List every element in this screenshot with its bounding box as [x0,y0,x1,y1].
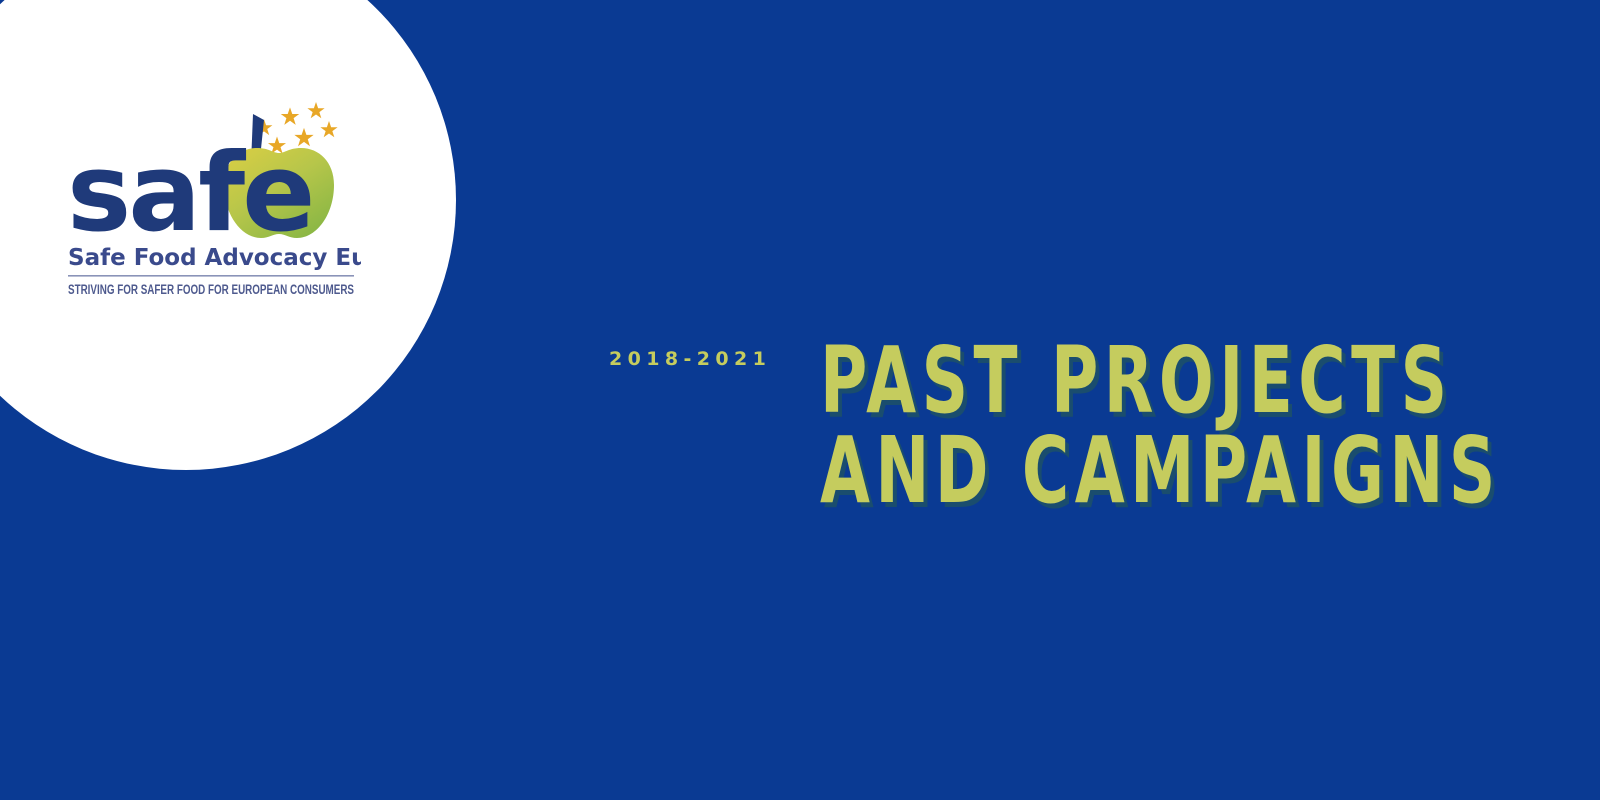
logo-circle-badge: safe Safe Food Advocacy Europe STRIVING … [0,0,456,470]
slide-canvas: safe Safe Food Advocacy Europe STRIVING … [0,0,1600,800]
page-title-line-1: PAST PROJECTS [820,336,1319,426]
safe-logo: safe Safe Food Advocacy Europe STRIVING … [61,90,361,305]
page-title-line-2: AND CAMPAIGNS [820,426,1319,516]
date-range-label: 2018-2021 [609,350,771,369]
logo-divider [68,275,354,277]
safe-logo-graphic: safe Safe Food Advocacy Europe STRIVING … [61,90,361,305]
logo-org-name: Safe Food Advocacy Europe [68,245,361,271]
logo-wordmark: safe [67,131,312,256]
logo-tagline: STRIVING FOR SAFER FOOD FOR EUROPEAN CON… [68,282,354,298]
page-title: PAST PROJECTS AND CAMPAIGNS [820,336,1460,516]
